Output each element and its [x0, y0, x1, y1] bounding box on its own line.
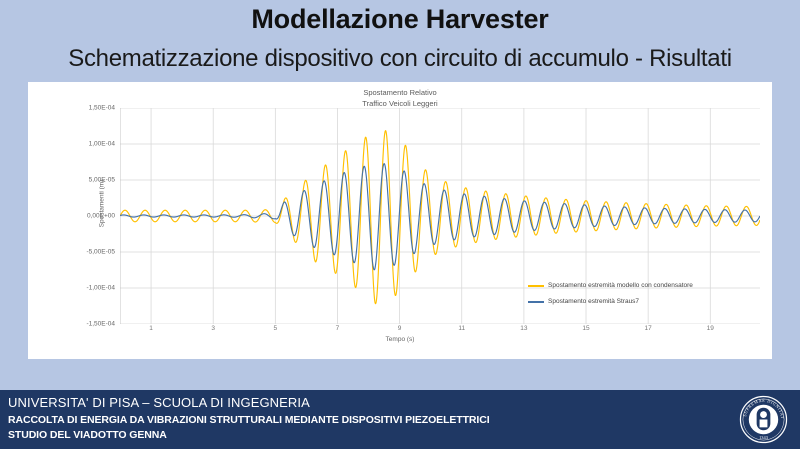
x-tick-label: 11	[458, 325, 465, 332]
y-axis-title: Spostamenti (m)	[99, 144, 106, 264]
legend-label: Spostamento estremità Straus7	[548, 298, 639, 305]
x-tick-label: 7	[336, 325, 340, 332]
x-tick-label: 19	[707, 325, 714, 332]
chart-title-line1: Spostamento Relativo	[363, 88, 436, 97]
chart-panel: Spostamento Relativo Traffico Veicoli Le…	[28, 82, 772, 359]
y-tick-label: 0,00E+00	[87, 213, 115, 220]
footer-project-title: RACCOLTA DI ENERGIA DA VIBRAZIONI STRUTT…	[8, 414, 490, 426]
legend-label: Spostamento estremità modello con conden…	[548, 282, 693, 289]
page-title: Modellazione Harvester	[0, 4, 800, 35]
legend-color-swatch	[528, 285, 544, 287]
footer-project-subtitle: STUDIO DEL VIADOTTO GENNA	[8, 429, 167, 441]
slide-root: Modellazione Harvester Schematizzazione …	[0, 0, 800, 449]
svg-text:1343: 1343	[759, 435, 769, 440]
y-tick-label: 1,00E-04	[89, 141, 115, 148]
series-line	[120, 164, 760, 270]
x-tick-label: 3	[211, 325, 215, 332]
y-tick-label: -5,00E-05	[86, 249, 115, 256]
y-tick-label: 1,50E-04	[89, 105, 115, 112]
x-tick-label: 9	[398, 325, 402, 332]
legend-item[interactable]: Spostamento estremità Straus7	[528, 298, 778, 305]
legend-color-swatch	[528, 301, 544, 303]
chart-title: Spostamento Relativo Traffico Veicoli Le…	[28, 87, 772, 109]
y-tick-label: -1,00E-04	[86, 284, 115, 291]
x-tick-label: 5	[274, 325, 278, 332]
footer-bar: UNIVERSITA' DI PISA – SCUOLA DI INGEGNER…	[0, 390, 800, 449]
footer-university: UNIVERSITA' DI PISA – SCUOLA DI INGEGNER…	[8, 395, 310, 410]
legend-item[interactable]: Spostamento estremità modello con conden…	[528, 282, 778, 289]
x-tick-label: 13	[520, 325, 527, 332]
x-tick-label: 1	[149, 325, 153, 332]
series-lines	[120, 131, 760, 304]
page-subtitle: Schematizzazione dispositivo con circuit…	[0, 45, 800, 73]
x-tick-label: 17	[645, 325, 652, 332]
y-tick-label: 5,00E-05	[89, 176, 115, 183]
university-seal-icon: IN SUPREMAE DIGNITATIS 1343	[739, 395, 788, 444]
x-tick-label: 15	[582, 325, 589, 332]
chart-legend: Spostamento estremità modello con conden…	[528, 282, 778, 314]
y-tick-label: -1,50E-04	[86, 321, 115, 328]
x-axis-title: Tempo (s)	[28, 336, 772, 343]
